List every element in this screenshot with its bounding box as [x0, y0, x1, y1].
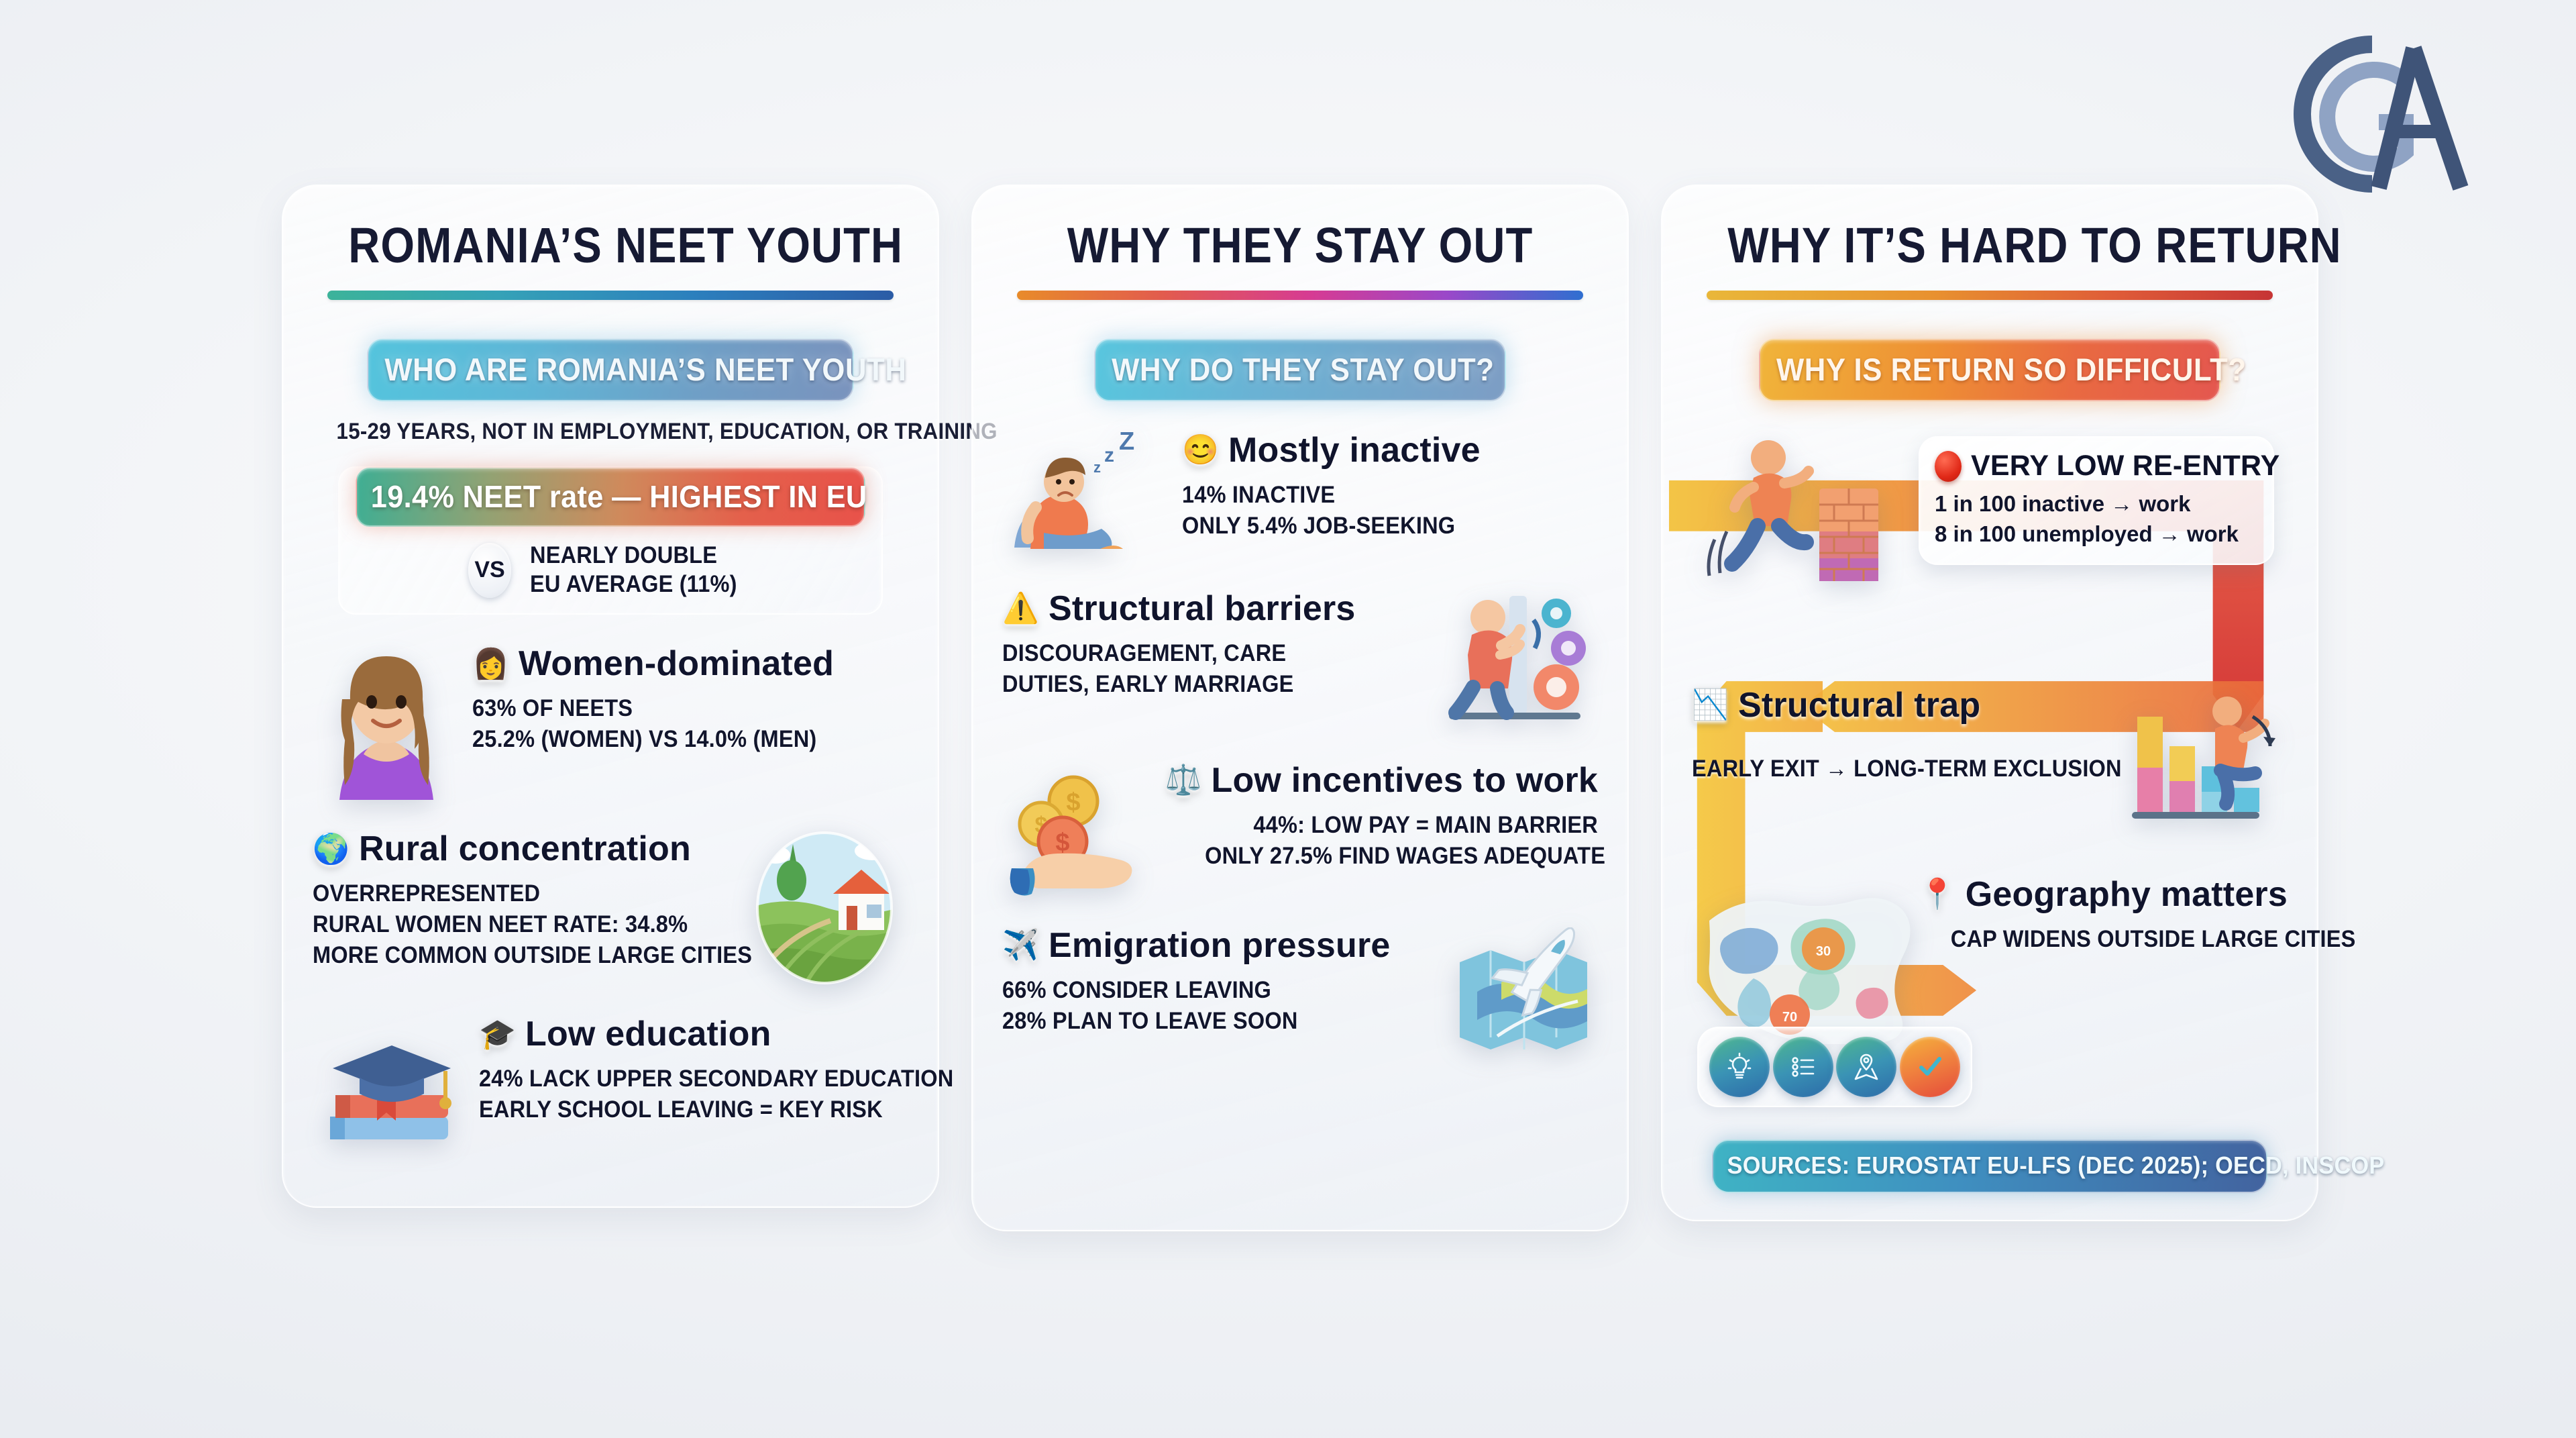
feature-lines: CAP WIDENS OUTSIDE LARGE CITIES — [1951, 924, 2288, 955]
feature-geography-matters: 30 70 📍 Geography matters — [1692, 876, 2288, 1044]
feature-title-row: ⚠️ Structural barriers — [1002, 590, 1418, 627]
comparison-row: VS NEARLY DOUBLE EU AVERAGE (11%) — [339, 542, 881, 603]
neet-rate-headline: 19.4% NEET rate — HIGHEST IN EU — [356, 468, 865, 527]
rural-landscape-art — [741, 831, 908, 985]
neet-rate-stat-card: 19.4% NEET rate — HIGHEST IN EU VS NEARL… — [338, 466, 883, 615]
column-banner: WHO ARE ROMANIA’S NEET YOUTH — [367, 339, 853, 401]
eu-comparison-text: NEARLY DOUBLE EU AVERAGE (11%) — [530, 542, 737, 599]
smiling-face-emoji-icon: 😊 — [1182, 435, 1219, 465]
svg-text:$: $ — [1055, 829, 1069, 857]
feature-text: 👩 Women-dominated 63% OF NEETS 25.2% (WO… — [472, 646, 908, 755]
hand-with-coins-art: $ $ $ — [1002, 762, 1163, 896]
map-pin-icon[interactable] — [1836, 1037, 1896, 1097]
feature-line-2: EARLY SCHOOL LEAVING = KEY RISK — [479, 1094, 878, 1125]
runner-over-wall-art — [1707, 431, 1894, 599]
feature-rural-concentration: 🌍 Rural concentration OVERREPRESENTED RU… — [313, 831, 908, 985]
callout-line-1: 1 in 100 inactive → work — [1935, 489, 2258, 519]
feature-line-2: ONLY 27.5% FIND WAGES ADEQUATE — [1205, 841, 1598, 872]
feature-text: 🌍 Rural concentration OVERREPRESENTED RU… — [313, 831, 729, 971]
chart-decreasing-emoji-icon: 📉 — [1692, 690, 1729, 720]
column-accent-rule — [327, 291, 894, 300]
feature-title-row: 🌍 Rural concentration — [313, 831, 729, 868]
declining-bar-chart-art — [2120, 687, 2288, 828]
feature-title: Structural barriers — [1049, 590, 1356, 627]
feature-title: Emigration pressure — [1049, 927, 1391, 964]
world-heatmap-art: 30 70 — [1692, 876, 1913, 1044]
callout-title-row: VERY LOW RE-ENTRY — [1935, 450, 2258, 482]
feature-line-2: ONLY 5.4% JOB-SEEKING — [1182, 511, 1569, 542]
feature-lines: 63% OF NEETS 25.2% (WOMEN) VS 14.0% (MEN… — [472, 693, 878, 755]
column-title: WHY THEY STAY OUT — [1038, 221, 1562, 270]
svg-text:$: $ — [1066, 788, 1080, 817]
warning-emoji-icon: ⚠️ — [1002, 594, 1039, 623]
feature-line-2: RURAL WOMEN NEET RATE: 34.8% — [313, 909, 700, 940]
svg-text:Z: Z — [1119, 432, 1134, 456]
feature-line-1: 63% OF NEETS — [472, 693, 878, 724]
feature-mostly-inactive: z z Z 😊 Mostly inactive 14% INACTIVE ONL… — [1002, 432, 1598, 560]
infographic-board: ROMANIA’S NEET YOUTH WHO ARE ROMANIA’S N… — [282, 185, 2301, 1231]
feature-title-row: 👩 Women-dominated — [472, 646, 908, 682]
column-romanias-neet-youth: ROMANIA’S NEET YOUTH WHO ARE ROMANIA’S N… — [282, 185, 939, 1208]
column-subcaption: 15-29 YEARS, NOT IN EMPLOYMENT, EDUCATIO… — [337, 419, 885, 445]
feature-lines: 24% LACK UPPER SECONDARY EDUCATION EARLY… — [479, 1064, 878, 1125]
column-why-its-hard-to-return: WHY IT’S HARD TO RETURN WHY IS RETURN SO… — [1661, 185, 2318, 1221]
feature-structural-barriers: ⚠️ Structural barriers DISCOURAGEMENT, C… — [1002, 590, 1598, 731]
feature-title-row: 🎓 Low education — [479, 1016, 908, 1053]
callout-lines: 1 in 100 inactive → work 8 in 100 unempl… — [1935, 489, 2258, 549]
feature-line-1: 44%: LOW PAY = MAIN BARRIER — [1205, 810, 1598, 841]
globe-emoji-icon: 🌍 — [313, 835, 350, 864]
graduation-books-art — [313, 1016, 467, 1150]
svg-text:30: 30 — [1816, 944, 1831, 959]
feature-emigration-pressure: ✈️ Emigration pressure 66% CONSIDER LEAV… — [1002, 927, 1598, 1055]
column-why-they-stay-out: WHY THEY STAY OUT WHY DO THEY STAY OUT? — [971, 185, 1629, 1231]
column-banner: WHY IS RETURN SO DIFFICULT? — [1759, 339, 2220, 401]
feature-line-1: 66% CONSIDER LEAVING — [1002, 975, 1395, 1006]
column-title: ROMANIA’S NEET YOUTH — [348, 221, 872, 270]
feature-title-row: ⚖️ Low incentives to work — [1175, 762, 1598, 799]
column-accent-rule — [1017, 291, 1583, 300]
airplane-emoji-icon: ✈️ — [1002, 931, 1039, 960]
feature-title: Low education — [525, 1016, 771, 1053]
feature-title-row: ✈️ Emigration pressure — [1002, 927, 1425, 964]
feature-line-1: CAP WIDENS OUTSIDE LARGE CITIES — [1951, 924, 2288, 955]
feature-line-1: 24% LACK UPPER SECONDARY EDUCATION — [479, 1064, 878, 1094]
feature-title: Geography matters — [1966, 876, 2288, 913]
feature-low-incentives: $ $ $ ⚖️ Low incentives to work — [1002, 762, 1598, 896]
feature-line-3: MORE COMMON OUTSIDE LARGE CITIES — [313, 940, 700, 971]
person-pushing-wall-art — [1430, 590, 1598, 731]
feature-title: Rural concentration — [359, 831, 691, 868]
feature-text: ⚖️ Low incentives to work 44%: LOW PAY =… — [1175, 762, 1598, 872]
callout-title: VERY LOW RE-ENTRY — [1971, 450, 2280, 482]
feature-title-row: 😊 Mostly inactive — [1182, 432, 1598, 469]
feature-text: ✈️ Emigration pressure 66% CONSIDER LEAV… — [1002, 927, 1425, 1037]
svg-text:z: z — [1093, 459, 1101, 476]
callout-line-2: 8 in 100 unemployed → work — [1935, 519, 2258, 550]
sources-bar: SOURCES: EUROSTAT EU-LFS (DEC 2025); OEC… — [1712, 1139, 2267, 1193]
graduation-cap-emoji-icon: 🎓 — [479, 1020, 516, 1049]
eu-comparison-line-2: EU AVERAGE (11%) — [530, 570, 737, 599]
map-pin-emoji-icon: 📍 — [1919, 880, 1956, 909]
feature-lines: DISCOURAGEMENT, CARE DUTIES, EARLY MARRI… — [1002, 638, 1389, 700]
feature-text: ⚠️ Structural barriers DISCOURAGEMENT, C… — [1002, 590, 1418, 700]
column-accent-rule — [1707, 291, 2273, 300]
feature-lines: OVERREPRESENTED RURAL WOMEN NEET RATE: 3… — [313, 878, 700, 972]
svg-text:70: 70 — [1782, 1010, 1797, 1025]
person-sleeping-art: z z Z — [1002, 432, 1170, 560]
feature-line-1: OVERREPRESENTED — [313, 878, 700, 909]
icon-strip — [1697, 1027, 1972, 1107]
svg-text:z: z — [1104, 444, 1114, 466]
feature-title-row: 📍 Geography matters — [1925, 876, 2288, 913]
feature-title: Mostly inactive — [1228, 432, 1481, 469]
feature-title: Structural trap — [1738, 687, 1980, 724]
very-low-re-entry-callout: VERY LOW RE-ENTRY 1 in 100 inactive → wo… — [1919, 436, 2274, 565]
feature-line-2: 25.2% (WOMEN) VS 14.0% (MEN) — [472, 724, 878, 755]
gca-logo — [2247, 20, 2529, 208]
feature-low-education: 🎓 Low education 24% LACK UPPER SECONDARY… — [313, 1016, 908, 1150]
feature-very-low-re-entry: VERY LOW RE-ENTRY 1 in 100 inactive → wo… — [1692, 424, 2288, 625]
eu-comparison-line-1: NEARLY DOUBLE — [530, 542, 737, 570]
feature-line-1: 14% INACTIVE — [1182, 480, 1569, 511]
feature-title: Low incentives to work — [1211, 762, 1598, 799]
feature-title: Women-dominated — [519, 646, 834, 682]
checklist-icon[interactable] — [1773, 1037, 1833, 1097]
feature-text: 📍 Geography matters CAP WIDENS OUTSIDE L… — [1925, 876, 2288, 955]
red-dot-icon — [1935, 451, 1962, 482]
vs-badge: VS — [468, 543, 511, 598]
woman-portrait-art — [313, 646, 460, 800]
plane-over-map-art — [1437, 927, 1598, 1055]
column-banner: WHY DO THEY STAY OUT? — [1094, 339, 1506, 401]
feature-title-row: 📉 Structural trap — [1692, 687, 2108, 724]
lightbulb-icon[interactable] — [1709, 1037, 1770, 1097]
feature-structural-trap: 📉 Structural trap EARLY EXIT → LONG-TERM… — [1692, 687, 2288, 828]
feature-text: 📉 Structural trap EARLY EXIT → LONG-TERM… — [1692, 687, 2108, 784]
balance-scale-emoji-icon: ⚖️ — [1165, 766, 1201, 795]
column-title: WHY IT’S HARD TO RETURN — [1727, 221, 2251, 270]
feature-lines: 66% CONSIDER LEAVING 28% PLAN TO LEAVE S… — [1002, 975, 1395, 1037]
feature-women-dominated: 👩 Women-dominated 63% OF NEETS 25.2% (WO… — [313, 646, 908, 800]
feature-line-2: DUTIES, EARLY MARRIAGE — [1002, 669, 1389, 700]
feature-text: 😊 Mostly inactive 14% INACTIVE ONLY 5.4%… — [1182, 432, 1598, 542]
feature-line-2: 28% PLAN TO LEAVE SOON — [1002, 1006, 1395, 1037]
feature-lines: EARLY EXIT → LONG-TERM EXCLUSION — [1692, 754, 2079, 784]
feature-text: 🎓 Low education 24% LACK UPPER SECONDARY… — [479, 1016, 908, 1125]
feature-lines: 44%: LOW PAY = MAIN BARRIER ONLY 27.5% F… — [1205, 810, 1598, 872]
feature-line-1: EARLY EXIT → LONG-TERM EXCLUSION — [1692, 754, 2079, 784]
feature-line-1: DISCOURAGEMENT, CARE — [1002, 638, 1389, 669]
woman-emoji-icon: 👩 — [472, 650, 509, 679]
checkmark-icon[interactable] — [1900, 1037, 1960, 1097]
feature-lines: 14% INACTIVE ONLY 5.4% JOB-SEEKING — [1182, 480, 1569, 542]
